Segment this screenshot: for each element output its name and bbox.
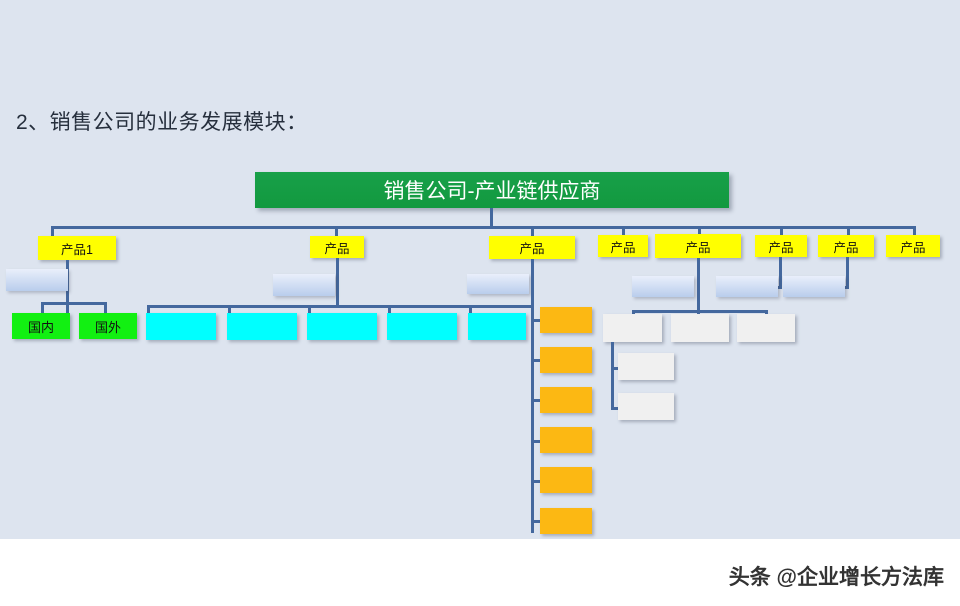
connector-orange-spine <box>531 259 534 533</box>
gray-box-4[interactable] <box>618 353 674 380</box>
product-node-5[interactable]: 产品 <box>655 234 741 258</box>
connector-level1-bus <box>51 226 915 229</box>
slide-background <box>0 0 960 539</box>
product-node-8[interactable]: 产品 <box>886 235 940 257</box>
product-node-3[interactable]: 产品 <box>489 236 575 259</box>
light-blue-box-4[interactable] <box>632 276 694 297</box>
connector-product2-stem <box>336 258 339 306</box>
orange-box-6[interactable] <box>540 508 592 534</box>
product-node-6[interactable]: 产品 <box>755 235 807 257</box>
cyan-box-5[interactable] <box>468 313 526 340</box>
region-node-overseas[interactable]: 国外 <box>79 313 137 339</box>
orange-box-4[interactable] <box>540 427 592 453</box>
connector-lblue5-stem <box>779 257 782 289</box>
light-blue-box-1[interactable] <box>6 269 68 291</box>
connector-root-stem <box>490 208 493 228</box>
orange-box-3[interactable] <box>540 387 592 413</box>
product-node-2[interactable]: 产品 <box>310 236 364 258</box>
light-blue-box-2[interactable] <box>273 274 335 296</box>
gray-box-3[interactable] <box>737 314 795 342</box>
light-blue-box-5[interactable] <box>716 276 778 297</box>
gray-box-1[interactable] <box>603 314 662 342</box>
cyan-box-4[interactable] <box>387 313 457 340</box>
orange-box-1[interactable] <box>540 307 592 333</box>
cyan-box-3[interactable] <box>307 313 377 340</box>
product-node-4[interactable]: 产品 <box>598 235 648 257</box>
orange-box-5[interactable] <box>540 467 592 493</box>
gray-box-5[interactable] <box>618 393 674 420</box>
watermark-text: 头条 @企业增长方法库 <box>729 561 944 591</box>
region-node-domestic[interactable]: 国内 <box>12 313 70 339</box>
light-blue-box-3[interactable] <box>467 274 529 294</box>
gray-box-2[interactable] <box>671 314 729 342</box>
cyan-box-2[interactable] <box>227 313 297 340</box>
product-node-1[interactable]: 产品1 <box>38 236 116 260</box>
product-node-7[interactable]: 产品 <box>818 235 874 257</box>
connector-product1-split <box>41 302 107 305</box>
page-title: 2、销售公司的业务发展模块： <box>16 106 308 136</box>
root-node-sales-company[interactable]: 销售公司-产业链供应商 <box>255 172 729 208</box>
orange-box-2[interactable] <box>540 347 592 373</box>
connector-gray-stem <box>697 258 700 313</box>
slide-canvas: 2、销售公司的业务发展模块： 销售公司-产业链供应商 产品1 产品 产品 产品 … <box>0 0 960 606</box>
light-blue-box-6[interactable] <box>783 276 845 297</box>
connector-graybranch-spine <box>611 342 614 410</box>
cyan-box-1[interactable] <box>146 313 216 340</box>
connector-gray-bus <box>632 310 768 313</box>
connector-lblue6-stem <box>846 257 849 289</box>
connector-cyan-bus <box>147 305 531 308</box>
